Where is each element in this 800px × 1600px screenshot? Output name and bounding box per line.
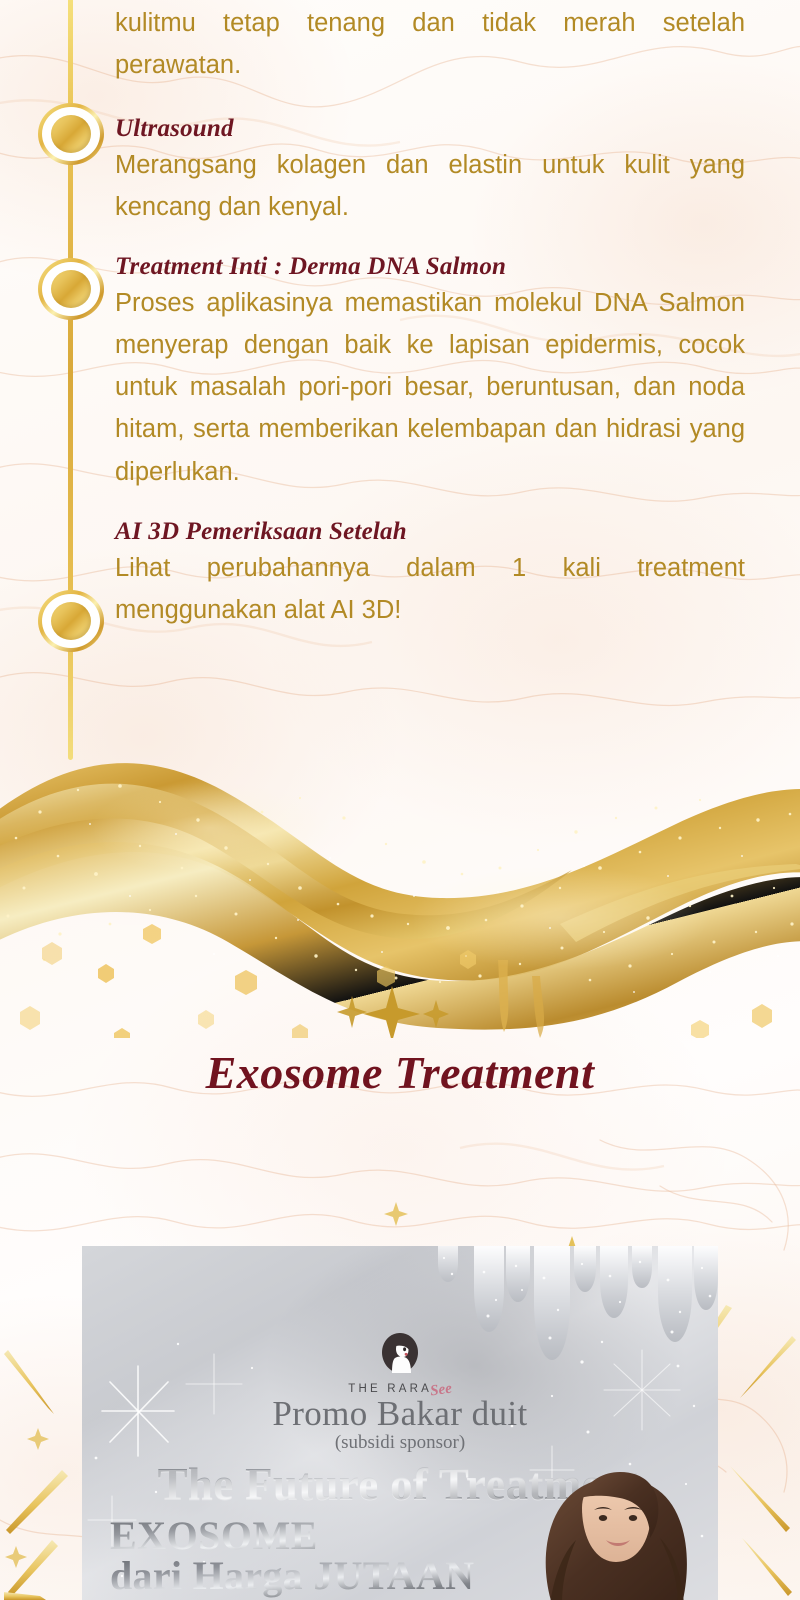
promo-card[interactable]: THE RARASee Promo Bakar duit (subsidi sp… xyxy=(82,1246,718,1600)
timeline-node-ultrasound xyxy=(38,103,104,165)
timeline-dot-icon xyxy=(51,115,91,153)
intro-continued-text: kulitmu tetap tenang dan tidak merah set… xyxy=(115,0,745,86)
promo-headline-small: Promo Bakar duit xyxy=(82,1394,718,1434)
woman-face-logo-icon xyxy=(379,1332,421,1374)
block-body: Proses aplikasinya memastikan molekul DN… xyxy=(115,282,745,492)
block-ultrasound: Ultrasound Merangsang kolagen dan elasti… xyxy=(115,114,745,228)
timeline-dot-icon xyxy=(51,602,91,640)
brand-logo: THE RARASee xyxy=(82,1332,718,1397)
section-title-exosome: Exosome Treatment xyxy=(0,1046,800,1099)
timeline-dot-icon xyxy=(51,270,91,308)
timeline-node-ai3d xyxy=(38,590,104,652)
block-heading: AI 3D Pemeriksaan Setelah xyxy=(115,517,745,547)
model-photo xyxy=(496,1454,718,1600)
block-ai3d: AI 3D Pemeriksaan Setelah Lihat perubaha… xyxy=(115,517,745,631)
block-heading: Ultrasound xyxy=(115,114,745,144)
timeline-node-treatment-inti xyxy=(38,258,104,320)
block-treatment-inti: Treatment Inti : Derma DNA Salmon Proses… xyxy=(115,252,745,492)
content-column: kulitmu tetap tenang dan tidak merah set… xyxy=(115,0,745,633)
block-heading: Treatment Inti : Derma DNA Salmon xyxy=(115,252,745,282)
block-body: Lihat perubahannya dalam 1 kali treatmen… xyxy=(115,547,745,631)
block-body: Merangsang kolagen dan elastin untuk kul… xyxy=(115,144,745,228)
promo-subtitle: (subsidi sponsor) xyxy=(82,1432,718,1454)
gold-glitter-wave xyxy=(0,728,800,1038)
